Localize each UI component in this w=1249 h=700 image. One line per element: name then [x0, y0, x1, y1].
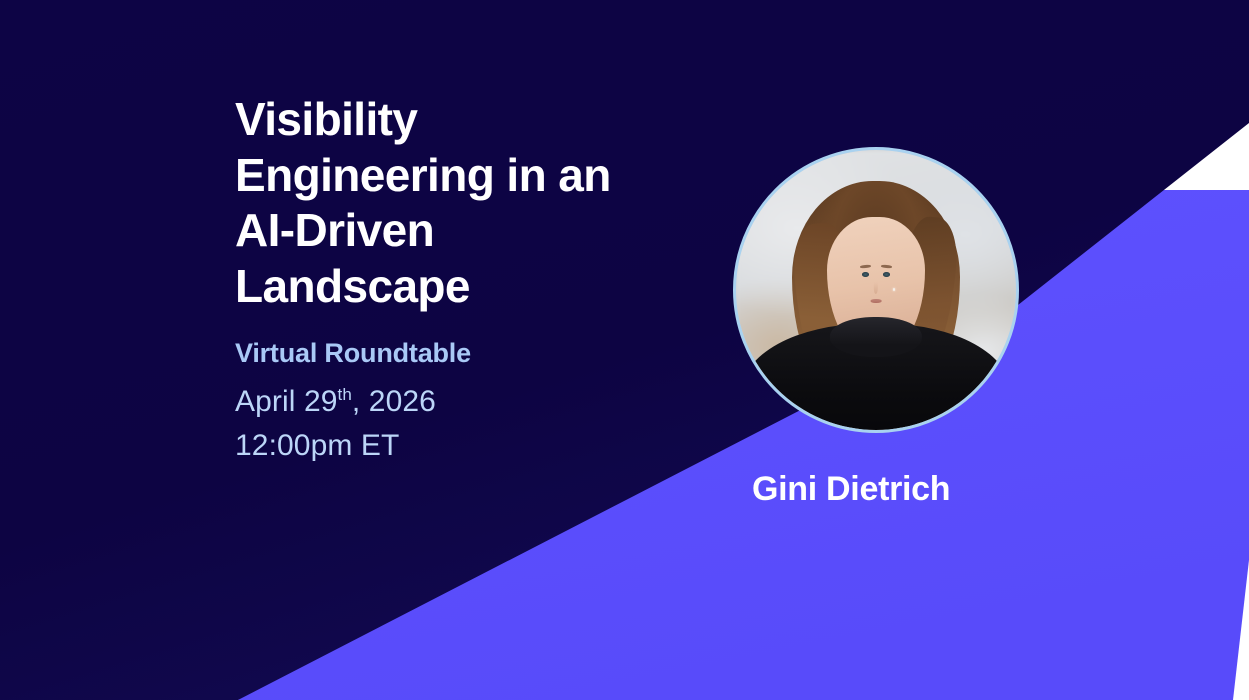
event-date: April 29th, 2026	[235, 380, 755, 424]
earring	[893, 288, 895, 291]
headline-line-3: AI-Driven	[235, 203, 755, 259]
event-type-label: Virtual Roundtable	[235, 339, 755, 369]
eyebrow-left	[860, 264, 871, 268]
speaker-name: Gini Dietrich	[752, 470, 950, 509]
event-date-ordinal: th	[338, 385, 352, 404]
eye-right	[883, 272, 890, 277]
turtleneck-collar	[830, 317, 921, 357]
portrait-photo	[736, 150, 1016, 430]
avatar	[733, 147, 1019, 433]
page-title: Visibility Engineering in an AI-Driven L…	[235, 92, 755, 315]
headline-line-1: Visibility	[235, 92, 755, 148]
eyebrow-right	[881, 264, 892, 268]
event-time: 12:00pm ET	[235, 424, 755, 468]
event-text-block: Visibility Engineering in an AI-Driven L…	[235, 92, 755, 467]
mouth	[871, 299, 882, 303]
nose	[874, 282, 878, 295]
eye-left	[862, 272, 869, 277]
event-date-suffix: , 2026	[352, 385, 436, 418]
headline-line-4: Landscape	[235, 259, 755, 315]
headline-line-2: Engineering in an	[235, 148, 755, 204]
promo-banner: Visibility Engineering in an AI-Driven L…	[0, 0, 1249, 700]
event-date-prefix: April 29	[235, 385, 338, 418]
